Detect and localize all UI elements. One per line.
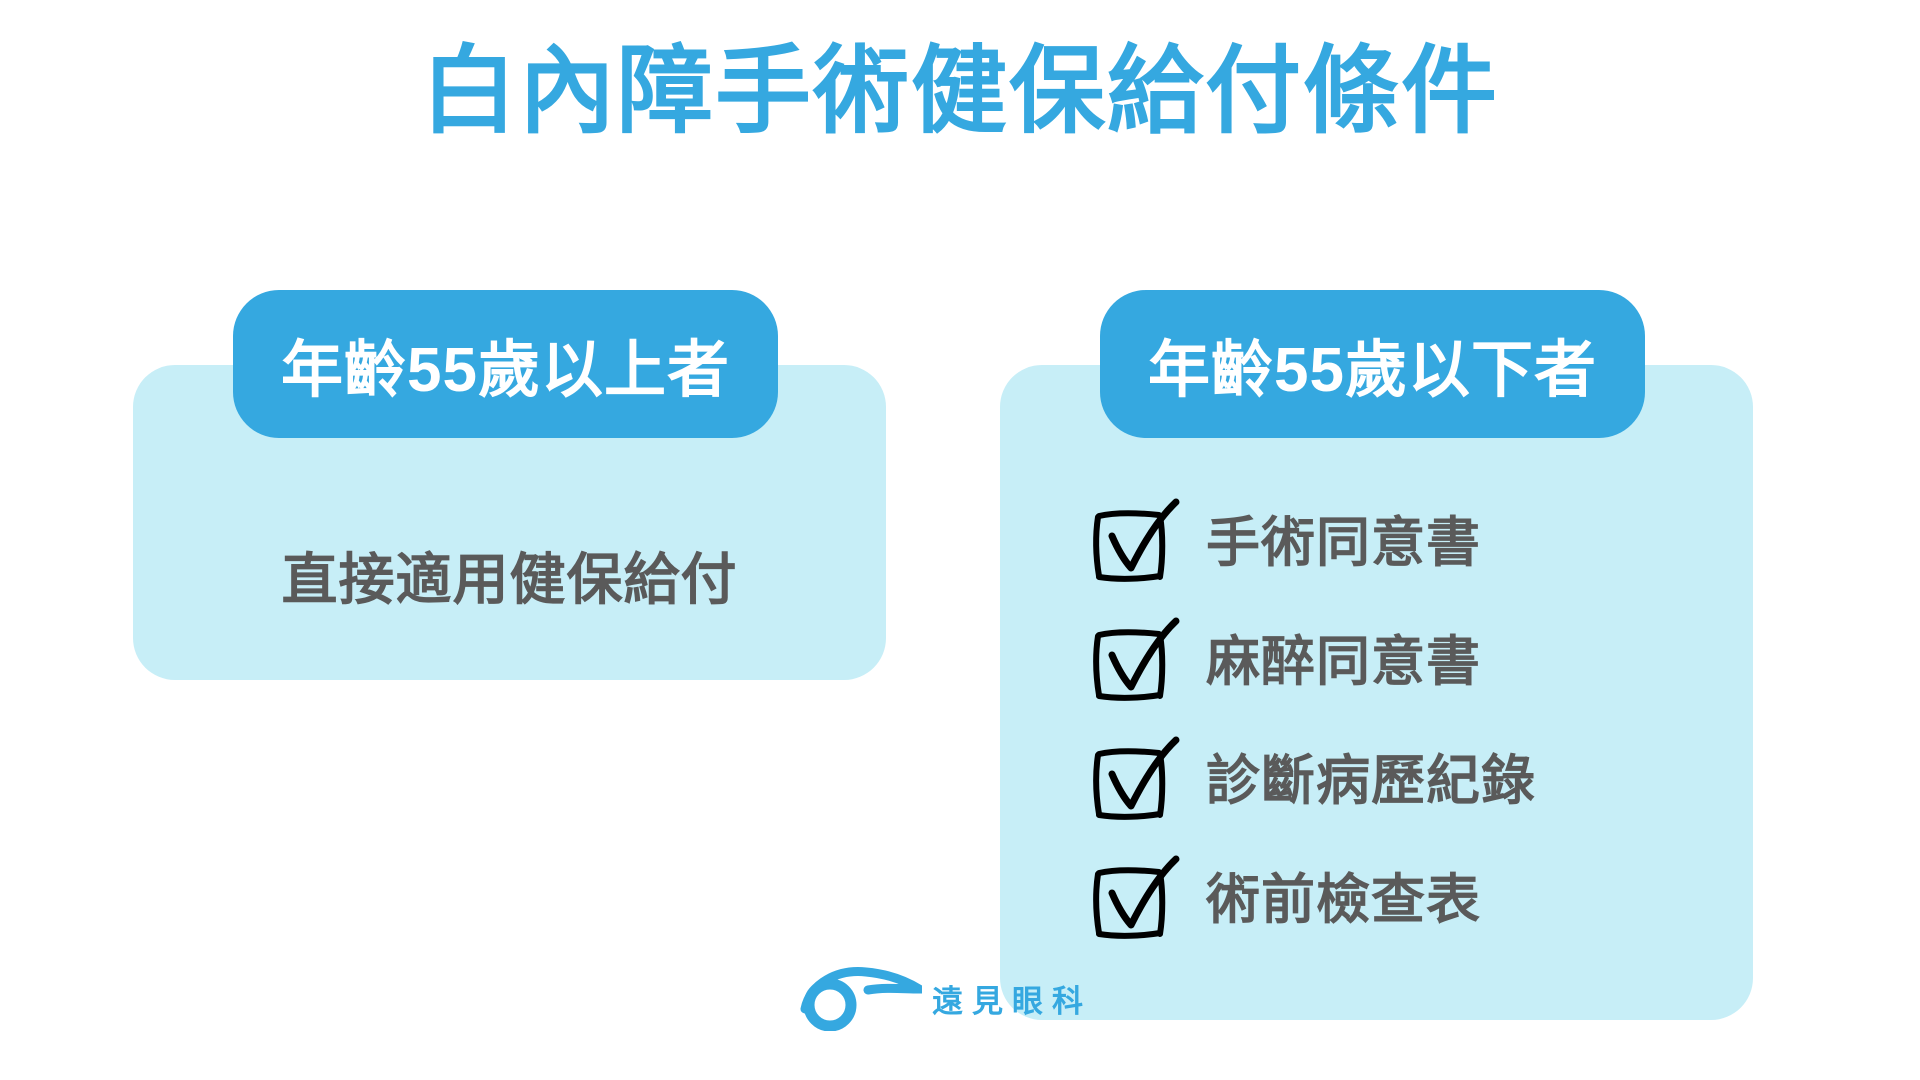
checkbox-checked-icon [1090,619,1176,705]
list-item-label: 術前檢查表 [1206,873,1481,927]
left-card-pill-label: 年齡55歲以上者 [233,290,778,438]
required-documents-checklist: 手術同意書 麻醉同意書 [1090,495,1710,971]
left-card-body-text: 直接適用健保給付 [133,535,886,616]
right-card-pill-label: 年齡55歲以下者 [1100,290,1645,438]
list-item: 術前檢查表 [1090,852,1710,948]
list-item: 手術同意書 [1090,495,1710,591]
cards-container: 直接適用健保給付 年齡55歲以上者 手術同意書 [0,290,1920,1010]
page-title: 白內障手術健保給付條件 [0,34,1920,149]
clinic-name: 遠見眼科 [932,976,1092,1021]
list-item-label: 手術同意書 [1206,516,1481,570]
clinic-logo: 遠見眼科 [800,965,1092,1031]
checkbox-checked-icon [1090,738,1176,824]
list-item: 診斷病歷紀錄 [1090,733,1710,829]
list-item-label: 診斷病歷紀錄 [1206,754,1536,808]
list-item-label: 麻醉同意書 [1206,635,1481,689]
checkbox-checked-icon [1090,500,1176,586]
eye-icon [800,965,922,1031]
infographic-page: 白內障手術健保給付條件 直接適用健保給付 年齡55歲以上者 手術同意書 [0,0,1920,1080]
list-item: 麻醉同意書 [1090,614,1710,710]
checkbox-checked-icon [1090,857,1176,943]
